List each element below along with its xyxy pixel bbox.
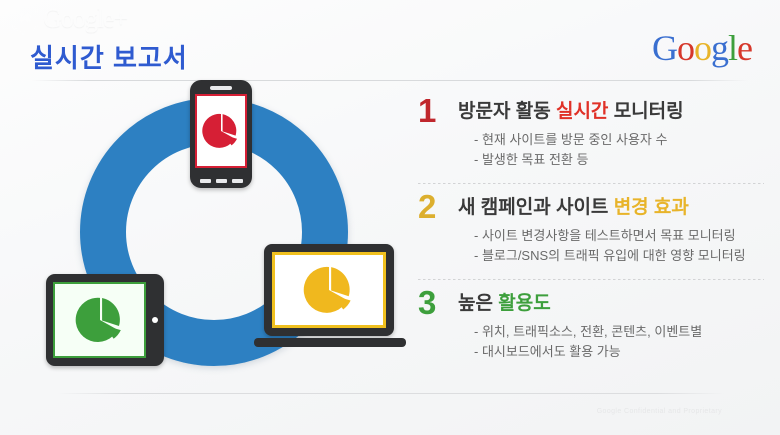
point-headline-3: 높은 활용도 [458, 292, 764, 316]
section-divider [418, 183, 764, 184]
point-headline-1: 방문자 활동 실시간 모니터링 [458, 100, 764, 124]
page-title: 실시간 보고서 [30, 38, 188, 75]
bullet-item: - 대시보드에서도 활용 가능 [474, 342, 764, 362]
footer-divider [58, 393, 724, 394]
point-item-1: 1 방문자 활동 실시간 모니터링 - 현재 사이트를 방문 중인 사용자 수 … [418, 100, 764, 170]
point-headline-2: 새 캠페인과 사이트 변경 효과 [458, 196, 764, 220]
headline-pre-1: 방문자 활동 [458, 101, 556, 122]
bullet-item: - 사이트 변경사항을 테스트하면서 목표 모니터링 [474, 226, 764, 246]
headline-pre-2: 새 캠페인과 사이트 [458, 197, 614, 218]
slide-canvas: 99 Google+ 실시간 보고서 Google [0, 0, 780, 435]
point-bullets-3: - 위치, 트래픽소스, 전환, 콘텐츠, 이벤트별 - 대시보드에서도 활용 … [458, 322, 764, 362]
headline-highlight-2: 변경 효과 [614, 197, 689, 218]
headline-highlight-3: 활용도 [498, 293, 550, 314]
headline-highlight-1: 실시간 [556, 101, 608, 122]
headline-pre-3: 높은 [458, 293, 498, 314]
phone-button-1 [200, 179, 211, 183]
speech-bubble-icon: 99 [12, 7, 38, 31]
logo-letter-o2: o [694, 30, 711, 66]
device-cycle-diagram [18, 84, 410, 394]
tablet-device [46, 274, 164, 366]
logo-letter-g2: g [711, 30, 728, 66]
pie-chart-icon [301, 263, 357, 317]
pie-chart-icon [73, 294, 127, 346]
point-number-2: 2 [418, 190, 436, 223]
phone-buttons [190, 179, 252, 183]
logo-letter-g1: G [652, 30, 677, 66]
phone-speaker [210, 86, 232, 90]
headline-post-1: 모니터링 [608, 101, 683, 122]
points-list: 1 방문자 활동 실시간 모니터링 - 현재 사이트를 방문 중인 사용자 수 … [418, 100, 764, 362]
tablet-home-button [152, 317, 158, 323]
logo-letter-o1: o [677, 30, 694, 66]
point-bullets-1: - 현재 사이트를 방문 중인 사용자 수 - 발생한 목표 전환 등 [458, 130, 764, 170]
watermark-label: Google+ [43, 4, 127, 34]
point-item-3: 3 높은 활용도 - 위치, 트래픽소스, 전환, 콘텐츠, 이벤트별 - 대시… [418, 292, 764, 362]
pie-chart-icon [201, 111, 241, 151]
section-divider [418, 279, 764, 280]
laptop-lid [264, 244, 394, 336]
point-bullets-2: - 사이트 변경사항을 테스트하면서 목표 모니터링 - 블로그/SNS의 트래… [458, 226, 764, 266]
bullet-item: - 블로그/SNS의 트래픽 유입에 대한 영향 모니터링 [474, 246, 764, 266]
laptop-device [254, 244, 406, 360]
phone-button-3 [232, 179, 243, 183]
logo-letter-e: e [737, 30, 752, 66]
bullet-item: - 현재 사이트를 방문 중인 사용자 수 [474, 130, 764, 150]
bullet-item: - 위치, 트래픽소스, 전환, 콘텐츠, 이벤트별 [474, 322, 764, 342]
point-item-2: 2 새 캠페인과 사이트 변경 효과 - 사이트 변경사항을 테스트하면서 목표… [418, 196, 764, 266]
google-logo: Google [652, 30, 752, 66]
phone-button-2 [216, 179, 227, 183]
logo-letter-l: l [728, 30, 737, 66]
google-plus-watermark: 99 Google+ [12, 4, 127, 34]
smartphone-device [190, 80, 252, 188]
footer-note: Google Confidential and Proprietary [597, 408, 722, 415]
laptop-base [254, 338, 406, 347]
point-number-1: 1 [418, 94, 436, 127]
tablet-screen [53, 282, 146, 358]
bullet-item: - 발생한 목표 전환 등 [474, 150, 764, 170]
point-number-3: 3 [418, 286, 436, 319]
phone-screen [195, 94, 247, 168]
header-divider [32, 80, 748, 81]
laptop-screen [272, 252, 386, 328]
